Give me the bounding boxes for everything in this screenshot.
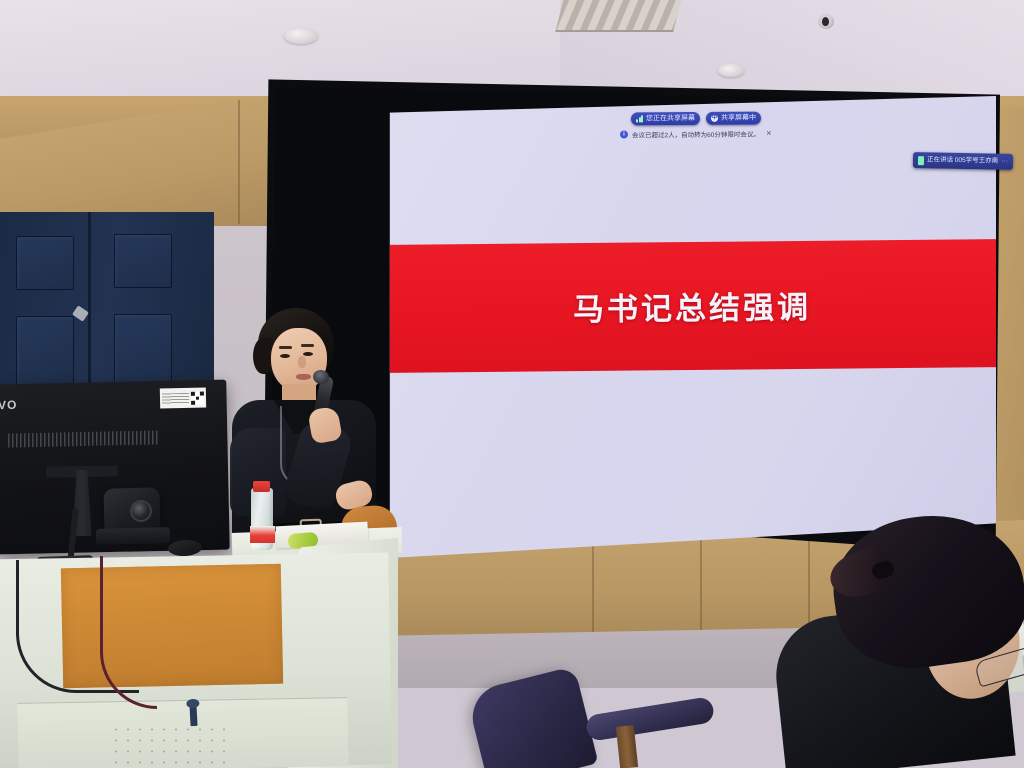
chip-sharing-active-label: 共享屏幕中 [721,112,756,125]
presenter-brow [301,344,314,347]
panel-seam [700,526,702,638]
asset-tag-sticker [160,388,206,409]
presenter-mouth [296,374,311,380]
speaker-icon [918,156,924,165]
qr-code-icon [191,391,204,404]
active-speaker-chip[interactable]: 正在讲话 005学号王亦南 ··· [913,152,1013,170]
water-bottle-cap [253,481,270,492]
close-icon[interactable]: ✕ [766,129,772,137]
asset-tag-lines [162,392,189,404]
chip-sharing-active[interactable]: 中 共享屏幕中 [706,112,761,125]
presenter-eye [280,354,290,358]
slide-title: 马书记总结强调 [573,281,811,328]
monitor-brand-text: VO [0,398,17,412]
chip-screen-sharing[interactable]: 您正在共享屏幕 [631,112,700,125]
presenter-brow [279,346,292,349]
seated-attendee [778,516,1024,768]
signal-bars-icon [636,115,643,122]
door-panel [16,316,74,386]
meeting-notice-toast[interactable]: i 会议已超过2人，自动转为60分钟限时会议。 ✕ [620,128,772,139]
info-icon: i [620,130,628,138]
globe-icon: 中 [711,115,718,122]
downlight-icon [718,64,744,77]
ceiling-sensor-icon [818,14,834,29]
cabinet-grille [110,724,230,768]
chip-screen-sharing-label: 您正在共享屏幕 [646,112,695,125]
active-speaker-label: 正在讲话 005学号王亦南 [927,152,998,169]
shared-slide[interactable]: 马书记总结强调 您正在共享屏幕 中 共享屏幕中 i 会议已超过2人，自动转为60… [388,96,996,558]
presenter-eye [303,352,313,356]
door-panel [16,236,74,290]
door-panel [114,314,172,384]
presenter-nose [298,356,306,368]
slide-title-banner: 马书记总结强调 [388,239,996,373]
panel-seam [238,100,240,224]
downlight-icon [284,28,318,44]
panel-seam [592,530,594,640]
door-panel [114,234,172,288]
cabinet-key[interactable] [189,704,197,726]
camera-lens-icon [130,500,152,522]
more-options-icon[interactable]: ··· [1001,154,1008,170]
meeting-notice-text: 会议已超过2人，自动转为60分钟限时会议。 [632,129,760,140]
conference-room-photo: 马书记总结强调 您正在共享屏幕 中 共享屏幕中 i 会议已超过2人，自动转为60… [0,0,1024,768]
sharing-status-chips: 您正在共享屏幕 中 共享屏幕中 [631,112,761,126]
camera-base [96,527,170,545]
office-chair-armrest[interactable] [585,696,715,742]
water-bottle-label [250,526,275,543]
hvac-vent [555,0,682,32]
